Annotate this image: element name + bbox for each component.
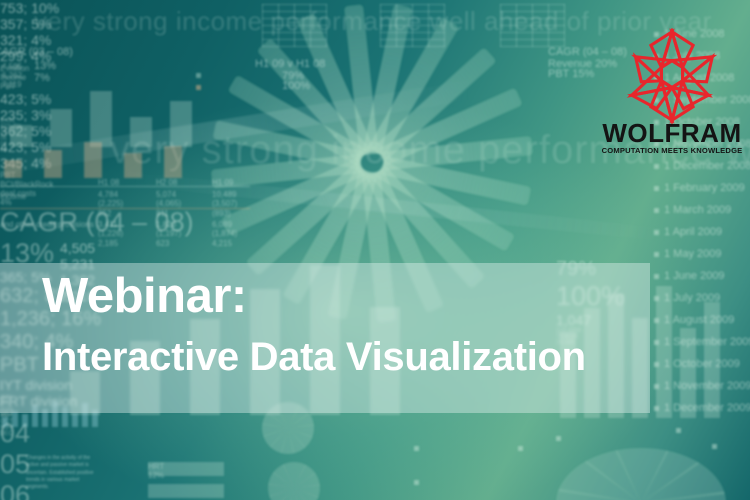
bar-value: 6,262 bbox=[2, 71, 202, 80]
bar-value: 4,505 bbox=[2, 62, 202, 71]
cagr-title: CAGR (03 – 08) bbox=[0, 46, 73, 58]
legend-date: 1 March 2009 bbox=[664, 204, 731, 216]
wolfram-spikey-icon bbox=[624, 28, 720, 124]
table-cell: (3,507) bbox=[212, 199, 237, 208]
table-cell: (1,197) bbox=[156, 229, 181, 238]
bar-value: 7,119 bbox=[2, 80, 202, 89]
bar-value: 4,505 bbox=[60, 240, 460, 256]
legend-date: 1 August 2009 bbox=[664, 314, 734, 326]
table-cell: 6,089 bbox=[212, 220, 232, 229]
cagr-row: 13% bbox=[34, 60, 56, 72]
legend-date: 1 December 2008 bbox=[664, 160, 750, 172]
legend-date: 1 September 2009 bbox=[664, 336, 750, 348]
table-cell: (2,225) bbox=[98, 199, 123, 208]
mini-table-right bbox=[500, 4, 565, 47]
banner-image: very strong income performance well ahea… bbox=[0, 0, 750, 500]
legend-date: 1 May 2009 bbox=[664, 248, 721, 260]
table-cell: 3,411 bbox=[98, 220, 117, 229]
legend-swatch-pbt bbox=[196, 85, 201, 90]
table-cell: 852 bbox=[98, 209, 111, 218]
wolfram-logo: WOLFRAM COMPUTATION MEETS KNOWLEDGE bbox=[598, 28, 746, 158]
webinar-subtitle: Interactive Data Visualization bbox=[42, 337, 586, 377]
table-cell: (1,226) bbox=[98, 229, 123, 238]
legend-date: 1 July 2009 bbox=[664, 292, 720, 304]
legend-date: 1 October 2009 bbox=[664, 358, 740, 370]
cagr-row: PBT 15% bbox=[548, 68, 594, 80]
table-cell: (4,065) bbox=[156, 199, 181, 208]
table-cell: (893) bbox=[212, 209, 231, 218]
table-cell: 1,820 bbox=[156, 220, 176, 229]
h1-compare-title: H1 09 v H1 08 bbox=[255, 58, 325, 70]
legend-date: 1 November 2009 bbox=[664, 380, 750, 392]
table-cell: 4,784 bbox=[98, 190, 118, 199]
wolfram-wordmark: WOLFRAM bbox=[598, 120, 746, 146]
title-block: Webinar: Interactive Data Visualization bbox=[42, 272, 586, 377]
legend-date: 1 June 2009 bbox=[664, 270, 725, 282]
webinar-title: Webinar: bbox=[42, 272, 586, 321]
mini-table-center bbox=[380, 4, 445, 47]
legend-date: 1 December 2009 bbox=[664, 402, 750, 414]
wolfram-tagline: COMPUTATION MEETS KNOWLEDGE bbox=[598, 146, 746, 155]
axis-tick-month: DEC bbox=[0, 431, 180, 437]
mini-table-left bbox=[262, 4, 327, 47]
legend-swatch-income bbox=[196, 73, 201, 78]
table-cell: 811 bbox=[156, 209, 169, 218]
note-text: Changes in the activity of the active an… bbox=[26, 455, 98, 491]
table-row-label: Income bbox=[0, 192, 26, 201]
h1-compare-value: 100% bbox=[282, 80, 310, 92]
cagr-row: 7% bbox=[34, 72, 50, 84]
table-cell: 5,074 bbox=[156, 190, 176, 199]
table-cell: (1,874) bbox=[212, 229, 237, 238]
table-col-header: H1 08 bbox=[98, 178, 119, 187]
legend-date: 1 February 2009 bbox=[664, 182, 745, 194]
table-row-label: and other credit provisions bbox=[0, 220, 94, 229]
